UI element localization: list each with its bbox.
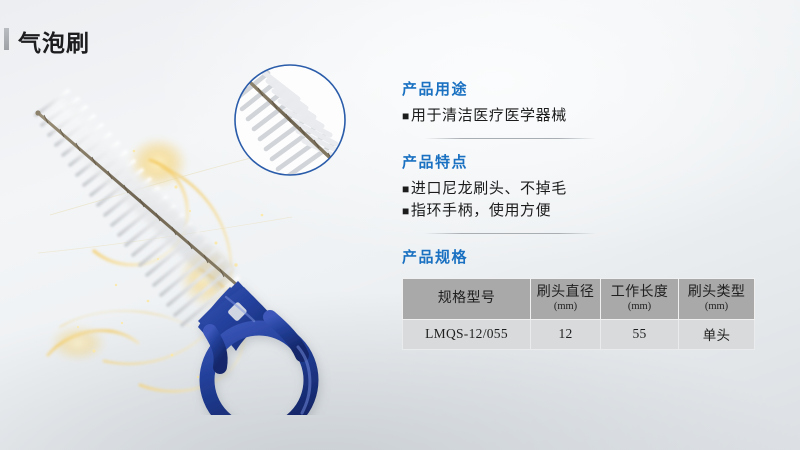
spec-header-cell: 刷头类型 (mm) [679, 278, 755, 319]
section-usage-heading: 产品用途 [402, 78, 774, 99]
section-features-heading: 产品特点 [402, 151, 774, 172]
bullet-item: ■用于清洁医疗医学器械 [402, 106, 774, 127]
info-panel: 产品用途 ■用于清洁医疗医学器械 产品特点 ■进口尼龙刷头、不掉毛 ■指环手柄，… [402, 78, 774, 350]
bullet-item: ■指环手柄，使用方便 [402, 201, 774, 222]
spec-table-row: LMQS-12/055 12 55 单头 [403, 319, 755, 349]
bullet-item: ■进口尼龙刷头、不掉毛 [402, 179, 774, 200]
spec-header-title: 工作长度 [611, 285, 669, 300]
spec-table-header-row: 规格型号 刷头直径 (mm) 工作长度 (mm) 刷头类型 (mm) [403, 278, 755, 319]
spec-header-cell: 工作长度 (mm) [601, 278, 679, 319]
page-title: 气泡刷 [18, 24, 90, 58]
spec-header-title: 刷头直径 [537, 285, 595, 300]
spec-header-unit: (mm) [679, 301, 754, 312]
spec-header-cell: 刷头直径 (mm) [531, 278, 601, 319]
spec-table: 规格型号 刷头直径 (mm) 工作长度 (mm) 刷头类型 (mm) [402, 278, 755, 350]
section-divider [424, 138, 596, 139]
section-specs-heading: 产品规格 [402, 246, 774, 267]
section-divider [424, 233, 596, 234]
bullet-text: 用于清洁医疗医学器械 [411, 108, 567, 124]
bullet-text: 指环手柄，使用方便 [411, 203, 551, 219]
spec-cell-diameter: 12 [531, 319, 601, 349]
magnifier-inset [235, 65, 346, 179]
spec-header-title: 刷头类型 [688, 285, 746, 300]
spec-cell-type: 单头 [679, 319, 755, 349]
spec-header-cell: 规格型号 [403, 278, 531, 319]
section-usage: 产品用途 ■用于清洁医疗医学器械 [402, 78, 774, 127]
bullet-square-icon: ■ [402, 204, 410, 218]
bullet-square-icon: ■ [402, 182, 410, 196]
title-accent-bar [4, 28, 9, 50]
bullet-square-icon: ■ [402, 109, 410, 123]
spec-cell-length: 55 [601, 319, 679, 349]
bullet-text: 进口尼龙刷头、不掉毛 [411, 181, 567, 197]
spec-header-unit: (mm) [601, 301, 678, 312]
product-slide: 气泡刷 [0, 0, 800, 450]
section-features: 产品特点 ■进口尼龙刷头、不掉毛 ■指环手柄，使用方便 [402, 151, 774, 222]
section-features-bullets: ■进口尼龙刷头、不掉毛 ■指环手柄，使用方便 [402, 179, 774, 222]
section-usage-bullets: ■用于清洁医疗医学器械 [402, 106, 774, 127]
spec-cell-model: LMQS-12/055 [403, 319, 531, 349]
product-illustration [30, 55, 380, 415]
section-specs: 产品规格 规格型号 刷头直径 (mm) 工作 [402, 246, 774, 350]
spec-header-unit: (mm) [531, 301, 600, 312]
product-photo [30, 55, 380, 415]
spec-header-title: 规格型号 [438, 291, 496, 306]
